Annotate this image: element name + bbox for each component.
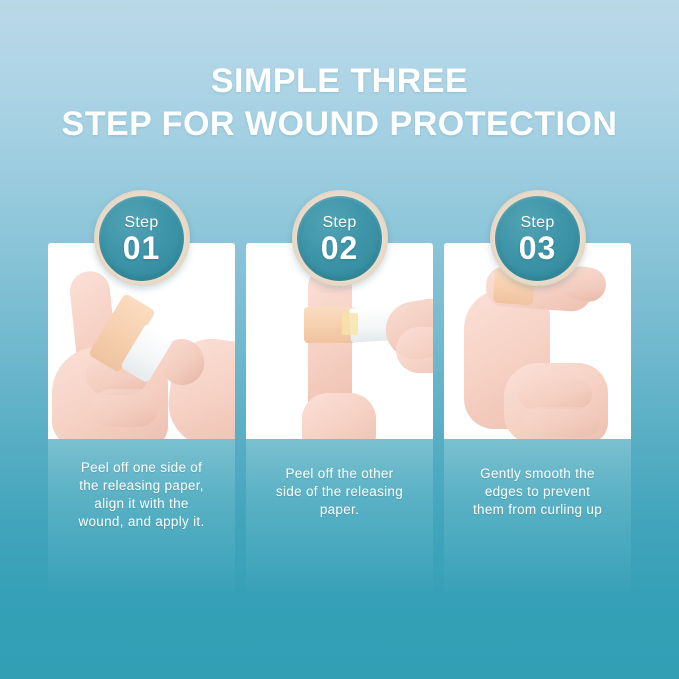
steps-row: Peel off one side of the releasing paper… <box>48 243 631 568</box>
step-badge-3: Step 03 <box>490 190 586 286</box>
step-badge-inner: Step 03 <box>495 196 580 281</box>
step-badge-number-2: 02 <box>321 231 359 265</box>
step-badge-2: Step 02 <box>292 190 388 286</box>
hand-knuckle-shape <box>524 407 600 437</box>
step-caption-3: Gently smooth the edges to prevent them … <box>473 465 602 519</box>
hand-palm-shape <box>302 393 376 439</box>
step-caption-1: Peel off one side of the releasing paper… <box>78 459 204 531</box>
page-title: SIMPLE THREE STEP FOR WOUND PROTECTION <box>0 60 679 146</box>
infographic-poster: SIMPLE THREE STEP FOR WOUND PROTECTION P… <box>0 0 679 679</box>
step-caption-2: Peel off the other side of the releasing… <box>276 465 403 519</box>
step-caption-panel-3: Gently smooth the edges to prevent them … <box>444 439 631 568</box>
card-reflection <box>48 568 235 610</box>
step-badge-inner: Step 02 <box>297 196 382 281</box>
card-reflection <box>444 568 631 610</box>
step-badge-number-3: 03 <box>519 231 557 265</box>
card-reflection <box>246 568 433 610</box>
step-badge-1: Step 01 <box>94 190 190 286</box>
hand-knuckle-shape <box>518 379 592 409</box>
step-badge-number-1: 01 <box>123 231 161 265</box>
bandage-pad-shape <box>342 313 358 335</box>
title-line-2: STEP FOR WOUND PROTECTION <box>0 103 679 146</box>
second-hand-shape <box>396 327 433 373</box>
step-card-1: Peel off one side of the releasing paper… <box>48 243 235 568</box>
step-card-3: Gently smooth the edges to prevent them … <box>444 243 631 568</box>
hand-knuckle-shape <box>92 389 158 427</box>
step-badge-word-2: Step <box>322 214 356 231</box>
step-caption-panel-1: Peel off one side of the releasing paper… <box>48 439 235 568</box>
title-line-1: SIMPLE THREE <box>0 60 679 103</box>
step-badge-inner: Step 01 <box>99 196 184 281</box>
step-badge-word-3: Step <box>520 214 554 231</box>
step-card-2: Peel off the other side of the releasing… <box>246 243 433 568</box>
step-badge-word-1: Step <box>124 214 158 231</box>
step-caption-panel-2: Peel off the other side of the releasing… <box>246 439 433 568</box>
